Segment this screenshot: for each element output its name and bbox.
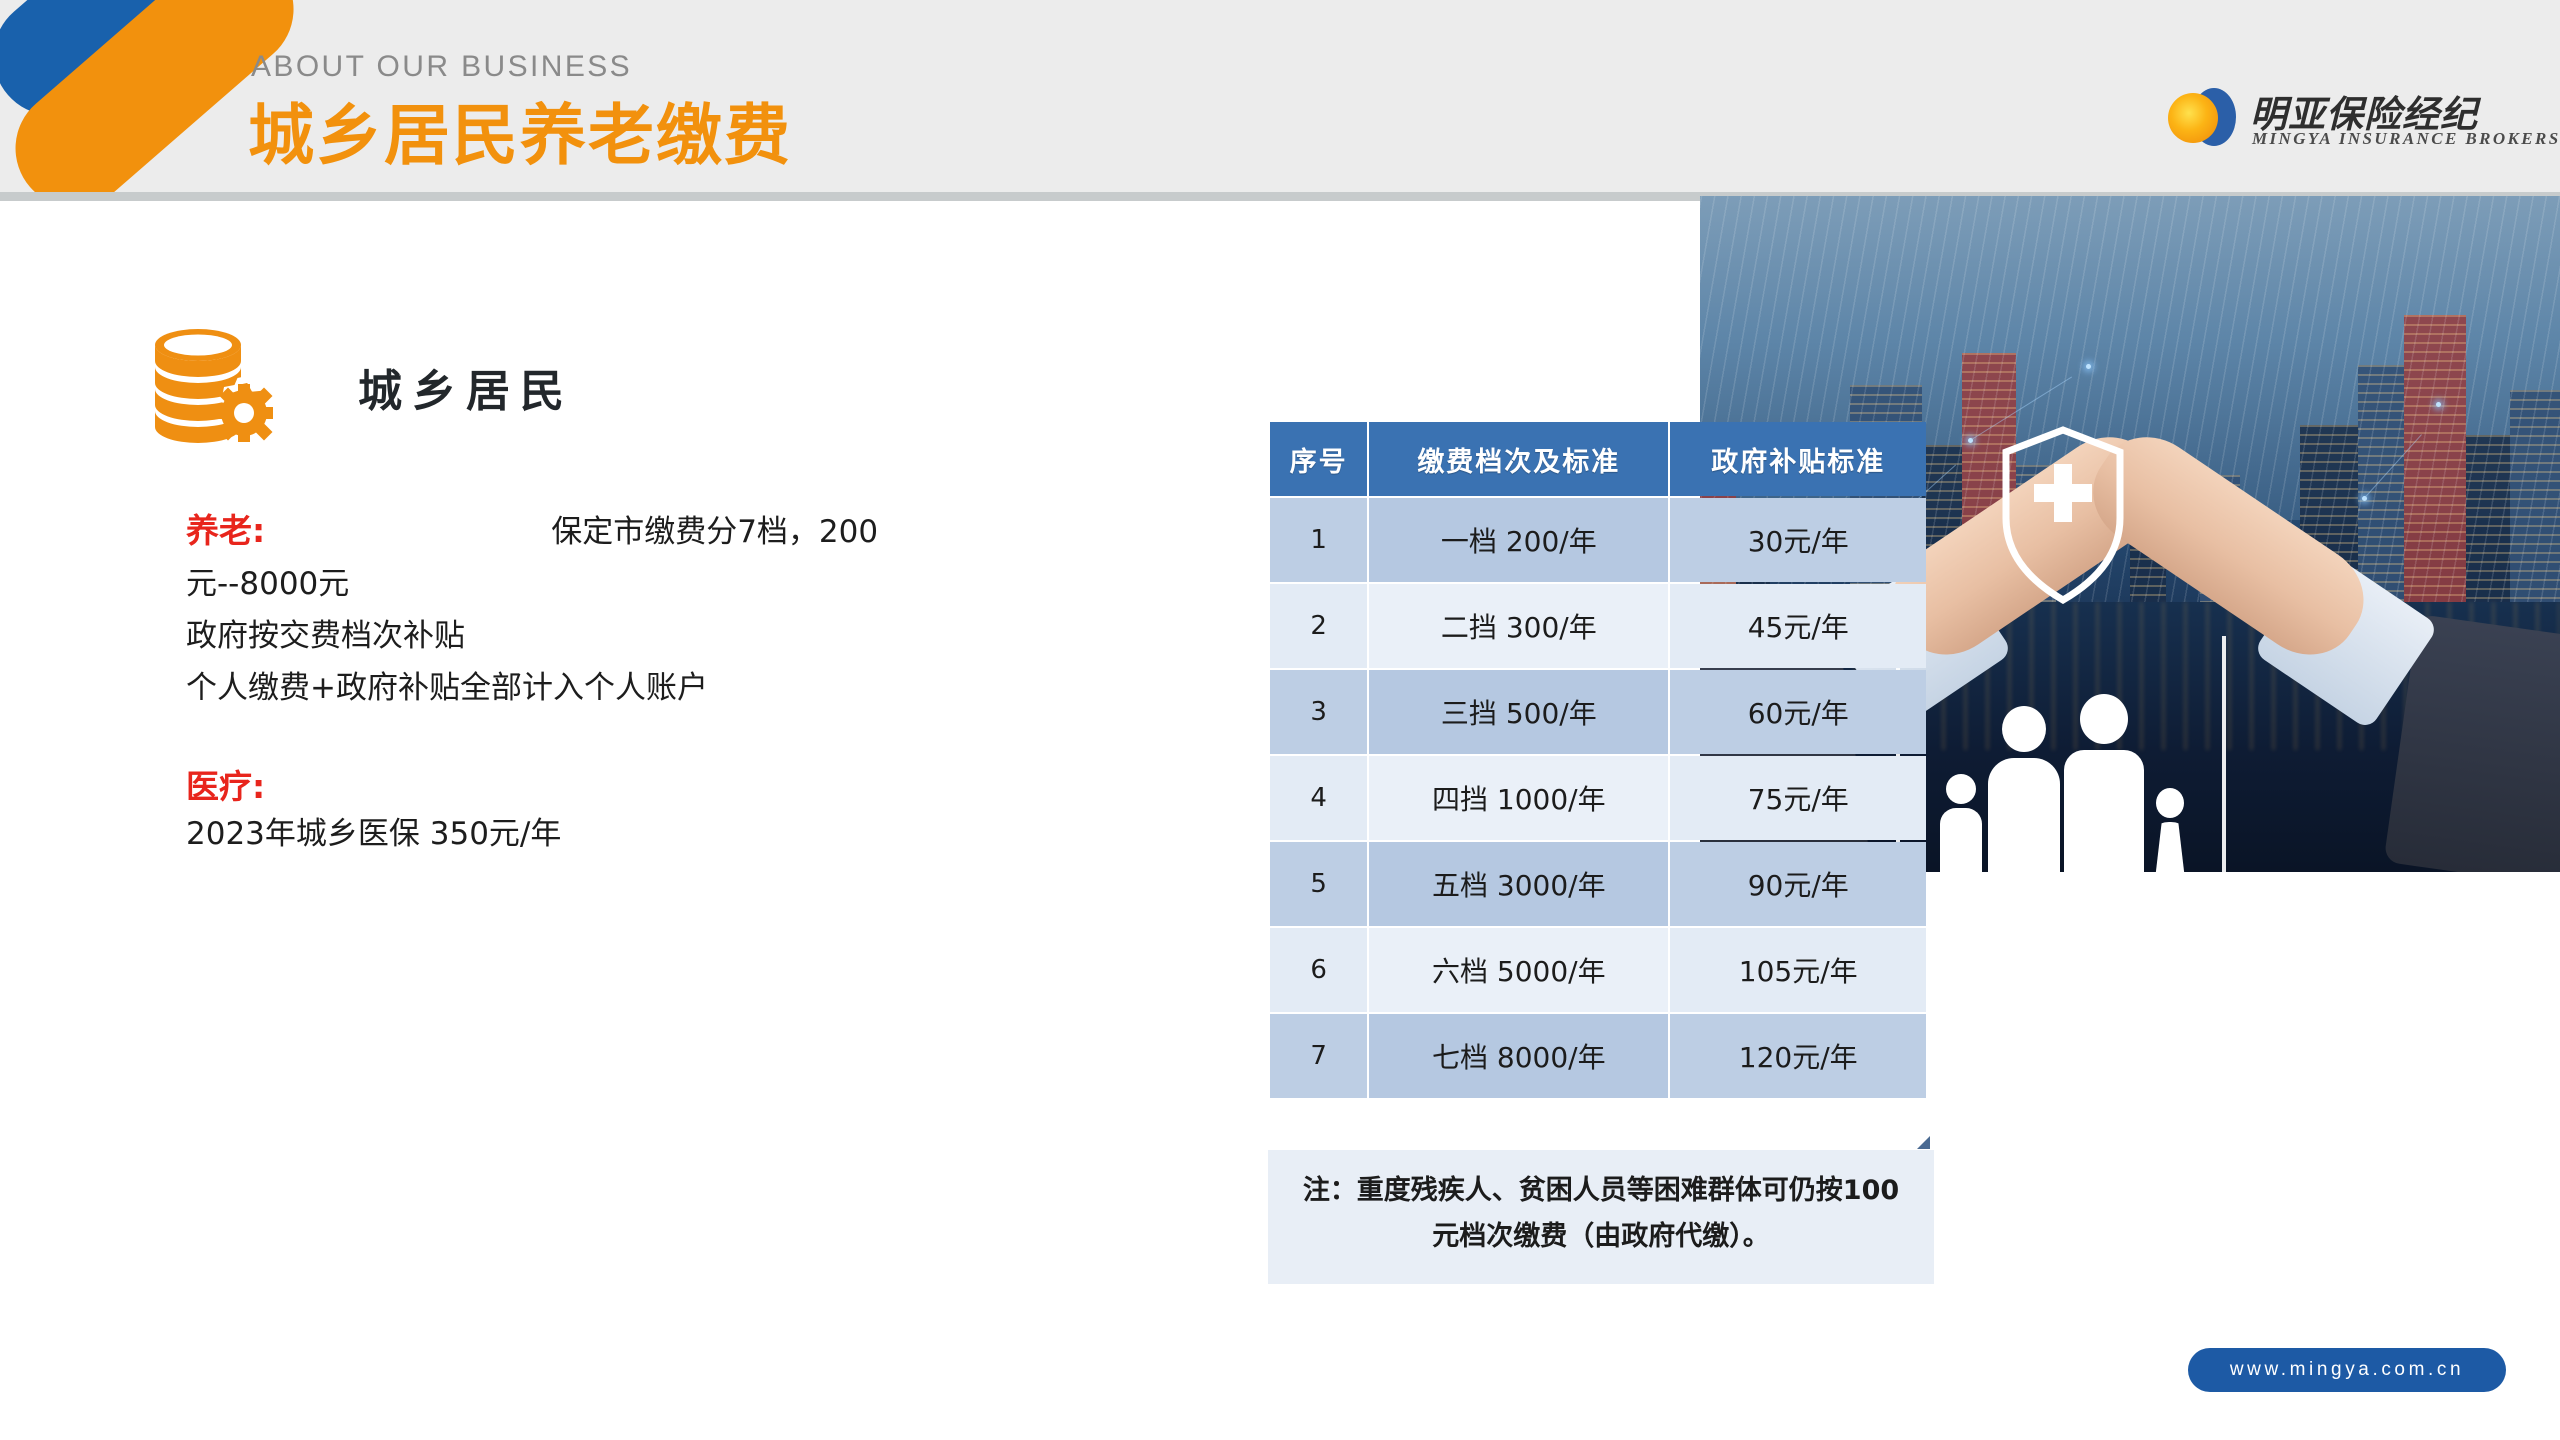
logo-sun-shape [2168, 93, 2218, 143]
pension-heading-row: 养老: 保定市缴费分7档，200 [186, 505, 1226, 558]
medical-heading-row: 医疗: [186, 760, 1226, 808]
table-row: 2 二挡 300/年 45元/年 [1270, 584, 1926, 668]
cell-tier: 一档 200/年 [1369, 498, 1668, 582]
website-url-badge[interactable]: www.mingya.com.cn [2188, 1348, 2506, 1392]
figure-body [1988, 758, 2060, 872]
logo-english-name: MINGYA INSURANCE BROKERS [2252, 129, 2560, 149]
header-kicker: ABOUT OUR BUSINESS [251, 50, 632, 84]
table-row: 4 四挡 1000/年 75元/年 [1270, 756, 1926, 840]
medical-line-1: 2023年城乡医保 350元/年 [186, 808, 1226, 860]
cell-subsidy: 120元/年 [1670, 1014, 1926, 1098]
figure-head [2002, 706, 2046, 752]
cell-subsidy: 90元/年 [1670, 842, 1926, 926]
table-row: 5 五档 3000/年 90元/年 [1270, 842, 1926, 926]
figure-head [1946, 774, 1976, 804]
section-title: 城乡居民 [358, 355, 574, 419]
body-text-block: 养老: 保定市缴费分7档，200 元--8000元 政府按交费档次补贴 个人缴费… [186, 505, 1226, 860]
table-row: 6 六档 5000/年 105元/年 [1270, 928, 1926, 1012]
cell-subsidy: 75元/年 [1670, 756, 1926, 840]
cell-index: 7 [1270, 1014, 1367, 1098]
footnote-line-2: 元档次缴费（由政府代缴）。 [1276, 1214, 1926, 1260]
cell-index: 1 [1270, 498, 1367, 582]
figure-body [1940, 808, 1982, 872]
cell-tier: 七档 8000/年 [1369, 1014, 1668, 1098]
pension-line-3: 个人缴费+政府补贴全部计入个人账户 [186, 662, 1226, 714]
cell-tier: 三挡 500/年 [1369, 670, 1668, 754]
figure-head [2080, 694, 2128, 744]
table-header-index: 序号 [1270, 422, 1367, 496]
network-node-dot [2086, 364, 2091, 369]
cell-index: 5 [1270, 842, 1367, 926]
cell-subsidy: 105元/年 [1670, 928, 1926, 1012]
table-row: 1 一档 200/年 30元/年 [1270, 498, 1926, 582]
footnote-line-1: 注：重度残疾人、贫困人员等困难群体可仍按100 [1276, 1168, 1926, 1214]
payment-tier-table: 序号 缴费档次及标准 政府补贴标准 1 一档 200/年 30元/年 2 二挡 … [1268, 420, 1928, 1100]
cell-tier: 五档 3000/年 [1369, 842, 1668, 926]
footnote-corner-marker [1917, 1136, 1930, 1149]
medical-label: 医疗: [186, 767, 265, 806]
table-row: 7 七档 8000/年 120元/年 [1270, 1014, 1926, 1098]
table-header-row: 序号 缴费档次及标准 政府补贴标准 [1270, 422, 1926, 496]
figure-body [2147, 822, 2193, 872]
family-figure-mother [1982, 706, 2066, 872]
table-row: 3 三挡 500/年 60元/年 [1270, 670, 1926, 754]
medical-shield-icon [2000, 426, 2126, 604]
pension-label: 养老: [186, 505, 265, 557]
cell-tier: 四挡 1000/年 [1369, 756, 1668, 840]
table-header-subsidy: 政府补贴标准 [1670, 422, 1926, 496]
cell-subsidy: 45元/年 [1670, 584, 1926, 668]
cell-tier: 六档 5000/年 [1369, 928, 1668, 1012]
page-title: 城乡居民养老缴费 [248, 82, 792, 178]
figure-body [2064, 750, 2144, 872]
company-logo: 明亚保险经纪 MINGYA INSURANCE BROKERS [2168, 86, 2528, 156]
pension-line-1: 元--8000元 [186, 558, 1226, 610]
cell-index: 4 [1270, 756, 1367, 840]
cell-subsidy: 60元/年 [1670, 670, 1926, 754]
figure-head [2156, 788, 2184, 818]
cell-index: 6 [1270, 928, 1367, 1012]
mingya-mark-icon [2168, 88, 2236, 148]
family-figure-child-right [2142, 788, 2198, 872]
text-spacer [186, 714, 1226, 760]
family-figure-father [2058, 694, 2150, 872]
coin-stack-gear-icon [148, 325, 276, 457]
network-node-dot [2436, 402, 2441, 407]
cell-subsidy: 30元/年 [1670, 498, 1926, 582]
cell-index: 3 [1270, 670, 1367, 754]
table-footnote: 注：重度残疾人、贫困人员等困难群体可仍按100 元档次缴费（由政府代缴）。 [1268, 1150, 1934, 1284]
cell-index: 2 [1270, 584, 1367, 668]
table-header-tier: 缴费档次及标准 [1369, 422, 1668, 496]
pension-line-2: 政府按交费档次补贴 [186, 610, 1226, 662]
cell-tier: 二挡 300/年 [1369, 584, 1668, 668]
pension-inline-tail: 保定市缴费分7档，200 [551, 506, 878, 558]
